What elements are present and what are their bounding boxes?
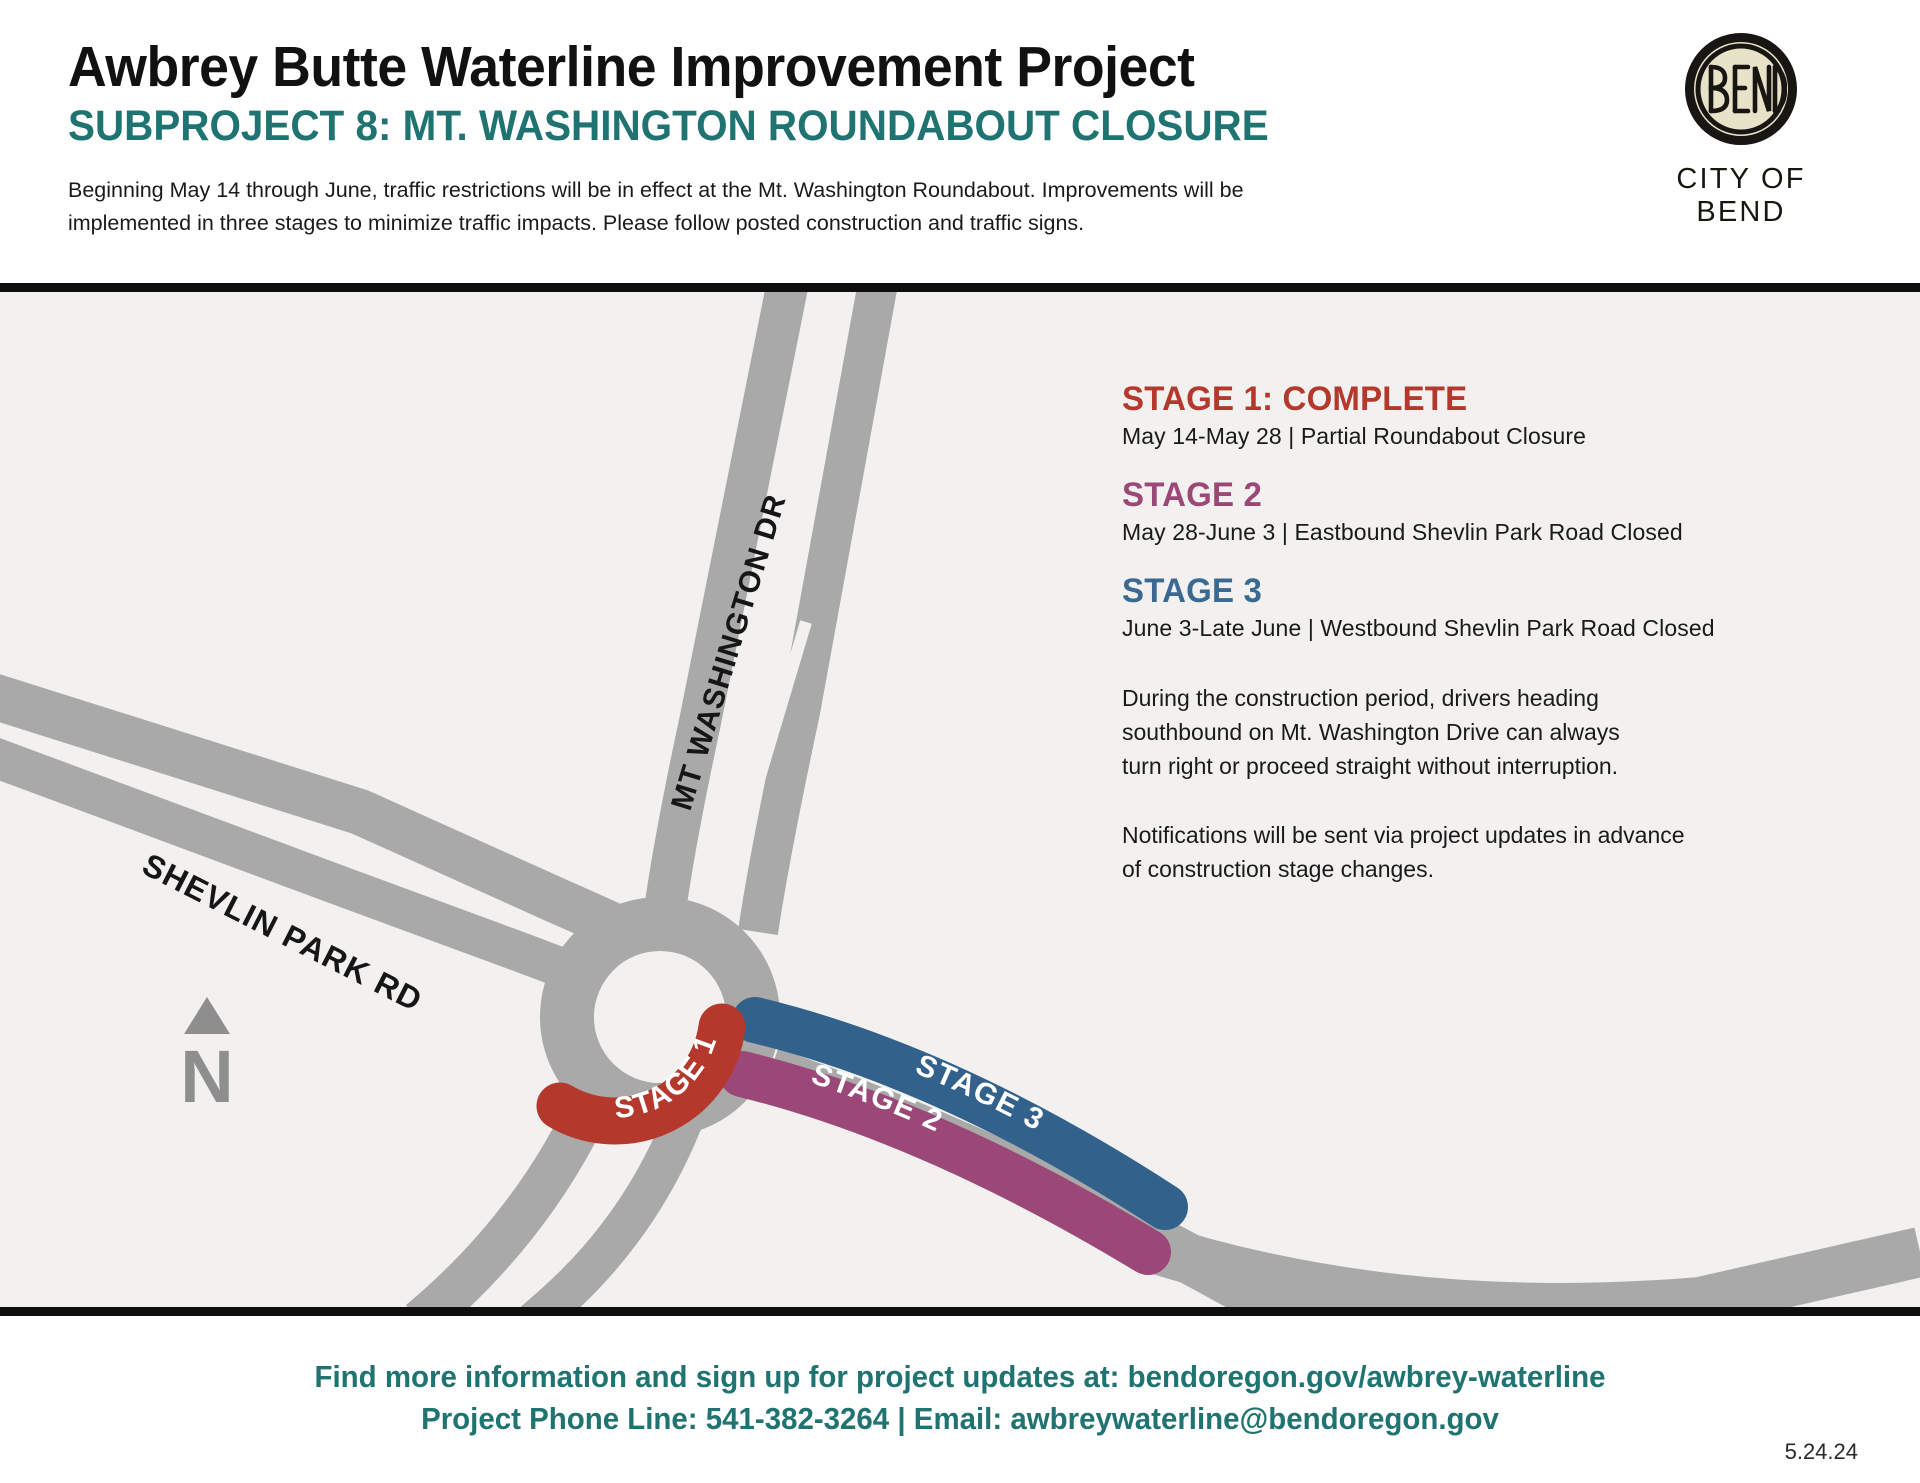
svg-text:N: N (180, 1035, 233, 1118)
compass-north-icon: N (180, 997, 233, 1118)
legend-stage-3: STAGE 3 June 3-Late June | Westbound She… (1122, 572, 1862, 642)
legend-stage-3-detail: June 3-Late June | Westbound Shevlin Par… (1122, 615, 1862, 642)
header-text-block: Awbrey Butte Waterline Improvement Proje… (68, 38, 1528, 241)
legend-stage-1-detail: May 14-May 28 | Partial Roundabout Closu… (1122, 423, 1862, 450)
legend-stage-2-heading: STAGE 2 (1122, 476, 1840, 515)
intro-line-2: implemented in three stages to minimize … (68, 207, 1468, 240)
legend-note-primary: During the construction period, drivers … (1122, 682, 1862, 783)
city-of-bend-logo: CITY OF BEND (1636, 33, 1846, 229)
road-shevlin-nw-upper (0, 692, 676, 957)
logo-wordmark: CITY OF BEND (1636, 163, 1846, 229)
legend-stage-1: STAGE 1: COMPLETE May 14-May 28 | Partia… (1122, 380, 1862, 450)
legend-note-2-line-2: of construction stage changes. (1122, 853, 1862, 887)
bend-badge-icon (1685, 33, 1797, 145)
footer-contact-line[interactable]: Project Phone Line: 541-382-3264 | Email… (48, 1398, 1872, 1440)
footer-contact-block: Find more information and sign up for pr… (0, 1356, 1920, 1440)
legend-stage-3-heading: STAGE 3 (1122, 572, 1840, 611)
legend-note-1-line-1: During the construction period, drivers … (1122, 682, 1862, 716)
page-header: Awbrey Butte Waterline Improvement Proje… (0, 0, 1920, 283)
page-footer: Find more information and sign up for pr… (0, 1316, 1920, 1483)
stage-legend: STAGE 1: COMPLETE May 14-May 28 | Partia… (1122, 380, 1862, 887)
document-date: 5.24.24 (1785, 1439, 1858, 1465)
legend-note-1-line-2: southbound on Mt. Washington Drive can a… (1122, 716, 1862, 750)
road-east-continuation (1150, 1247, 1920, 1307)
legend-stage-2-detail: May 28-June 3 | Eastbound Shevlin Park R… (1122, 519, 1862, 546)
page-title: Awbrey Butte Waterline Improvement Proje… (68, 38, 1440, 97)
intro-line-1: Beginning May 14 through June, traffic r… (68, 174, 1468, 207)
legend-note-secondary: Notifications will be sent via project u… (1122, 819, 1862, 887)
map-panel: MT WASHINGTON DR SHEVLIN PARK RD N STAGE… (0, 283, 1920, 1316)
legend-note-1-line-3: turn right or proceed straight without i… (1122, 750, 1862, 784)
intro-paragraph: Beginning May 14 through June, traffic r… (68, 174, 1468, 241)
legend-stage-1-heading: STAGE 1: COMPLETE (1122, 380, 1840, 419)
legend-stage-2: STAGE 2 May 28-June 3 | Eastbound Shevli… (1122, 476, 1862, 546)
legend-note-2-line-1: Notifications will be sent via project u… (1122, 819, 1862, 853)
footer-website-line[interactable]: Find more information and sign up for pr… (48, 1356, 1872, 1398)
page-subtitle: SUBPROJECT 8: MT. WASHINGTON ROUNDABOUT … (68, 101, 1440, 152)
